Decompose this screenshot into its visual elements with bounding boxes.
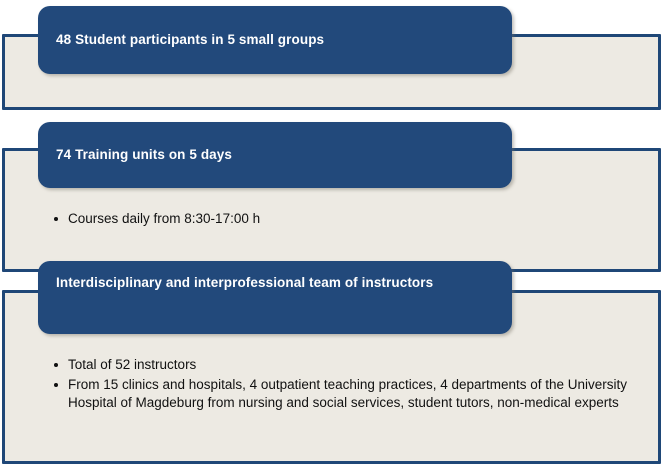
info-block-training-units: 74 Training units on 5 days Courses dail… [2,120,661,252]
list-item-text: Courses daily from 8:30-17:00 h [68,211,260,226]
bullet-list-instructors: Total of 52 instructors From 15 clinics … [54,356,639,414]
list-item: Total of 52 instructors [54,356,639,374]
header-tab-instructors[interactable]: Interdisciplinary and interprofessional … [38,261,512,334]
bullet-list-training-units: Courses daily from 8:30-17:00 h [54,210,639,230]
list-item: Courses daily from 8:30-17:00 h [54,210,639,228]
list-item-text: Total of 52 instructors [68,357,196,372]
bullet-dot-icon [54,383,58,387]
slide-canvas: 48 Student participants in 5 small group… [0,0,664,464]
bullet-dot-icon [54,217,58,221]
header-tab-training-units[interactable]: 74 Training units on 5 days [38,122,512,188]
info-block-instructors: Interdisciplinary and interprofessional … [2,259,661,464]
list-item: From 15 clinics and hospitals, 4 outpati… [54,376,639,412]
header-tab-participants[interactable]: 48 Student participants in 5 small group… [38,6,512,74]
header-tab-label-instructors: Interdisciplinary and interprofessional … [56,274,433,291]
list-item-text: From 15 clinics and hospitals, 4 outpati… [68,377,627,410]
bullet-dot-icon [54,363,58,367]
header-tab-label-participants: 48 Student participants in 5 small group… [56,31,324,48]
info-block-participants: 48 Student participants in 5 small group… [2,0,661,112]
header-tab-label-training-units: 74 Training units on 5 days [56,146,232,163]
